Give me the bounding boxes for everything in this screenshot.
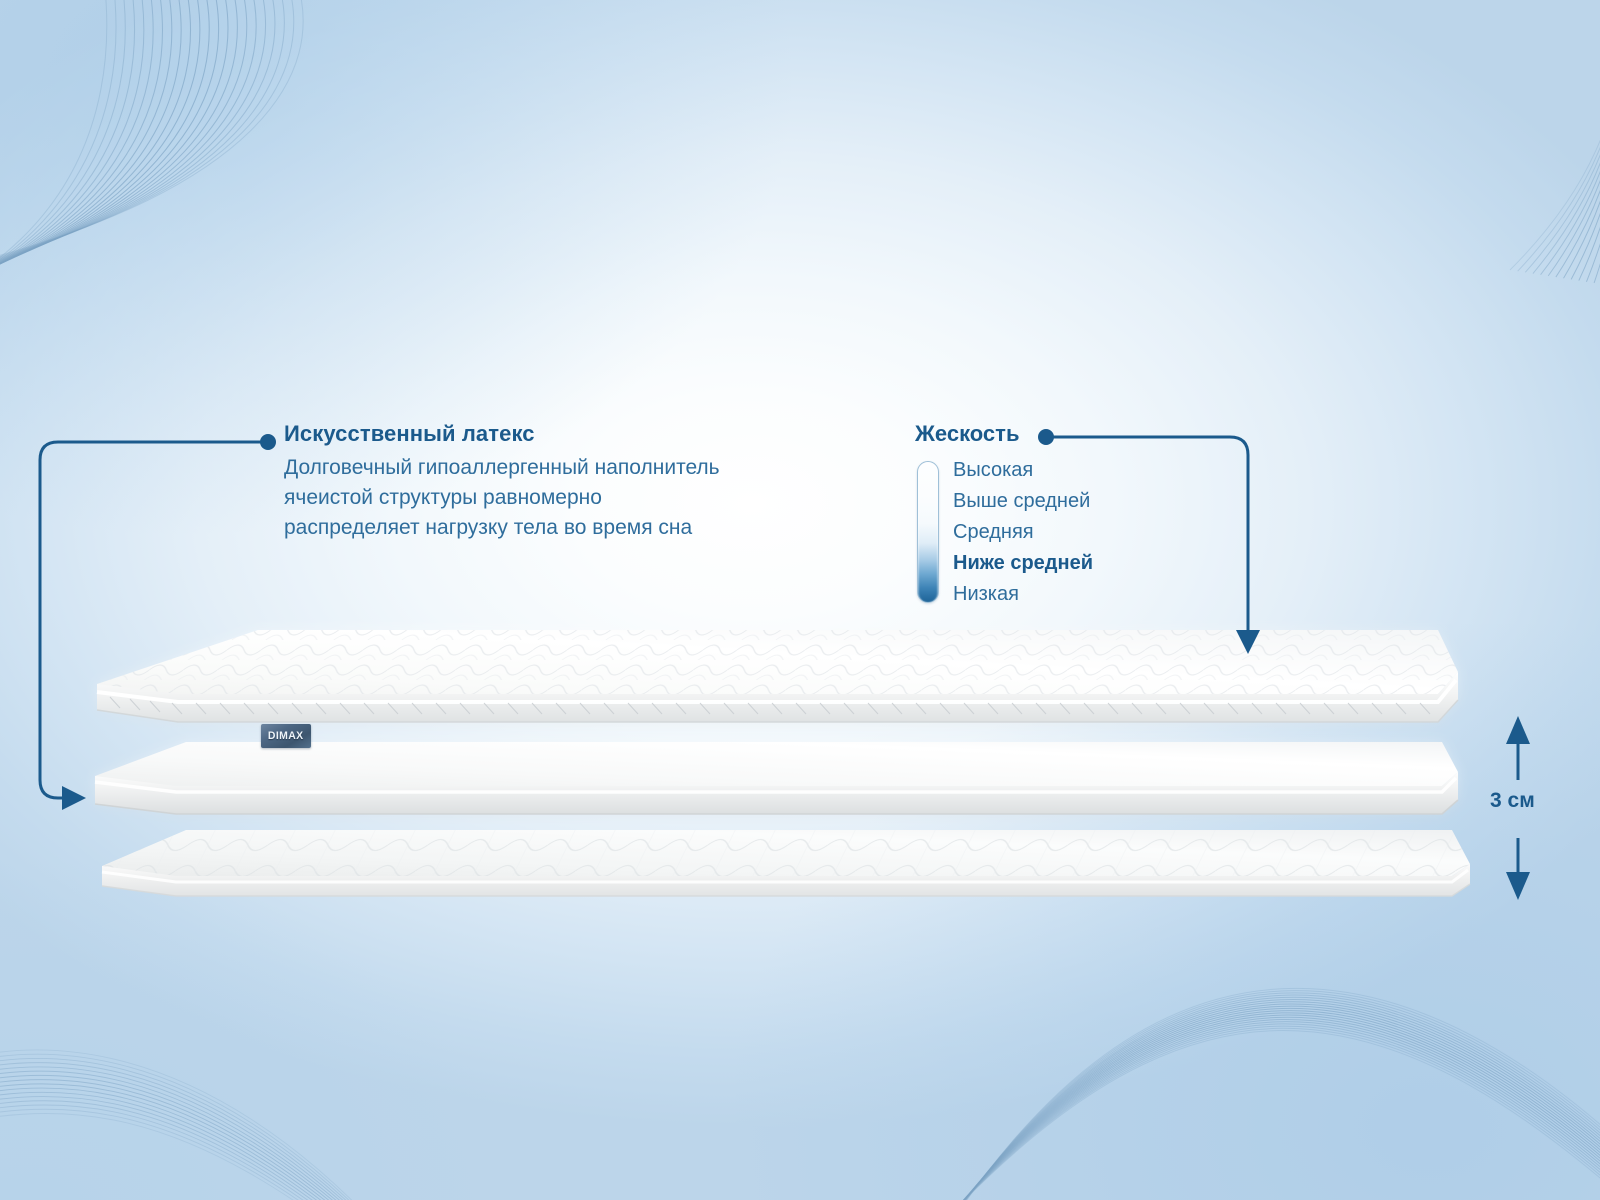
mattress-layer-top-cover xyxy=(97,630,1458,722)
dimax-tag-label: DIMAX xyxy=(268,730,304,742)
firmness-level-3[interactable]: Ниже средней xyxy=(953,548,1093,579)
firmness-title: Жескость xyxy=(915,421,1335,447)
mattress-layer-bottom xyxy=(102,830,1470,896)
infographic-canvas: DIMAX Искусственный латекс Долговечный г… xyxy=(0,0,1600,1200)
dimax-brand-tag: DIMAX xyxy=(261,724,311,748)
dimension-arrowhead-down xyxy=(1506,872,1530,900)
mattress-layer-stack xyxy=(0,0,1600,1200)
firmness-scale-block: Жескость ВысокаяВыше среднейСредняяНиже … xyxy=(915,421,1335,610)
mattress-layer-middle-latex xyxy=(95,742,1458,814)
firmness-level-0[interactable]: Высокая xyxy=(953,455,1093,486)
firmness-level-list: ВысокаяВыше среднейСредняяНиже среднейНи… xyxy=(953,455,1093,610)
firmness-level-1[interactable]: Выше средней xyxy=(953,486,1093,517)
thickness-label: 3 см xyxy=(1490,789,1535,813)
callout-latex-body: Долговечный гипоаллергенный наполнитель … xyxy=(284,453,734,542)
firmness-level-2[interactable]: Средняя xyxy=(953,517,1093,548)
firmness-level-4[interactable]: Низкая xyxy=(953,579,1093,610)
callout-latex-title: Искусственный латекс xyxy=(284,421,734,447)
callout-artificial-latex: Искусственный латекс Долговечный гипоалл… xyxy=(284,421,734,542)
firmness-gradient-bar xyxy=(917,461,939,603)
